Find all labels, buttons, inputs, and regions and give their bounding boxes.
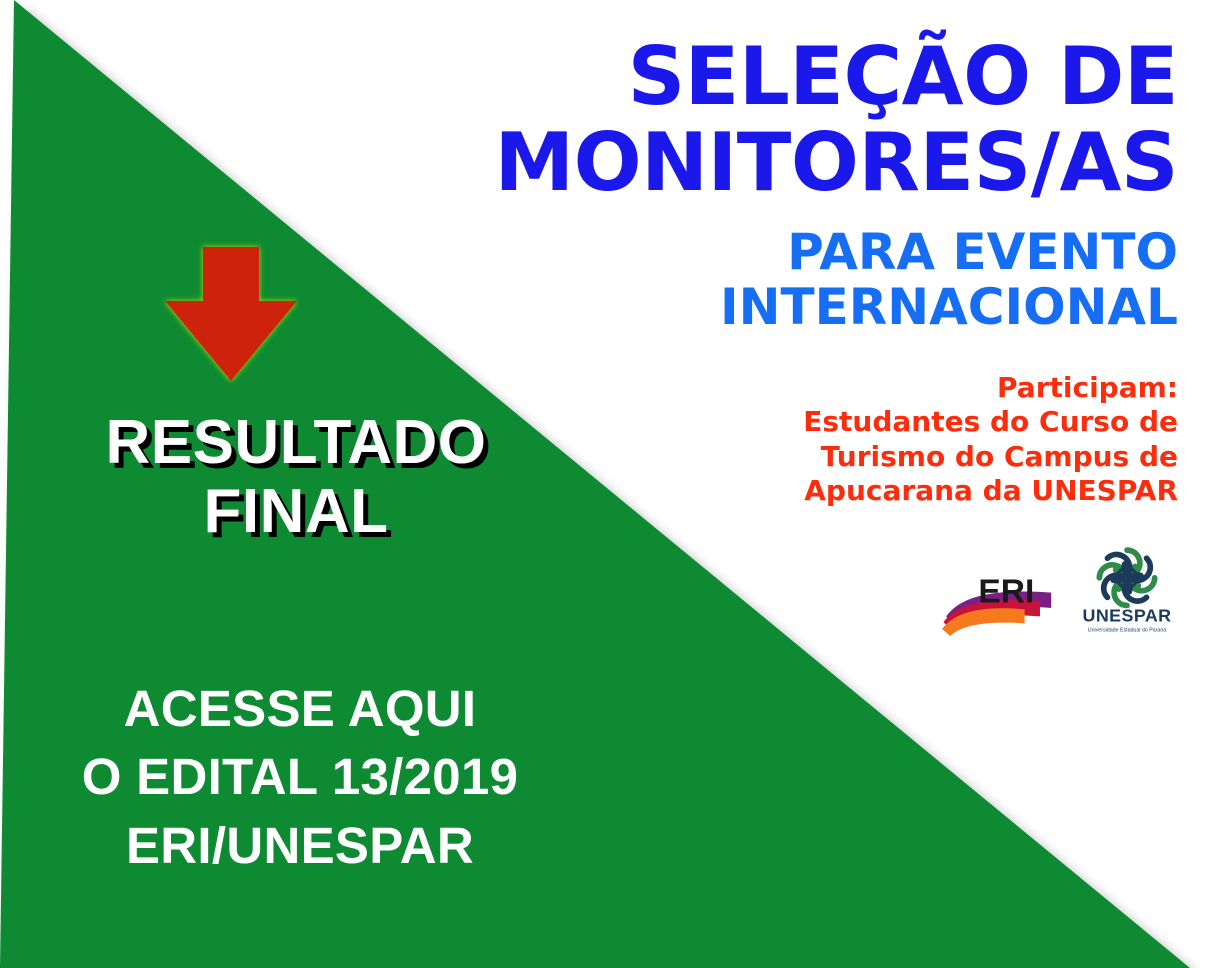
unespar-center-dot xyxy=(1124,574,1131,581)
unespar-logo: UNESPAR Universidade Estadual do Paraná xyxy=(1078,542,1176,638)
poster-title: SELEÇÃO DE MONITORES/AS xyxy=(418,34,1178,205)
participants-note: Participam: Estudantes do Curso de Turis… xyxy=(418,371,1178,508)
subtitle-line-2: INTERNACIONAL xyxy=(418,280,1178,335)
participants-line-3: Turismo do Campus de xyxy=(418,440,1178,474)
eri-wordmark: ERI xyxy=(978,573,1034,610)
poster-subtitle: PARA EVENTO INTERNACIONAL xyxy=(418,225,1178,335)
unespar-tagline: Universidade Estadual do Paraná xyxy=(1088,627,1167,633)
unespar-emblem xyxy=(1098,549,1155,606)
poster-canvas: SELEÇÃO DE MONITORES/AS PARA EVENTO INTE… xyxy=(0,0,1224,968)
right-content-column: SELEÇÃO DE MONITORES/AS PARA EVENTO INTE… xyxy=(418,0,1178,638)
unespar-wordmark: UNESPAR xyxy=(1083,606,1172,626)
title-line-2: MONITORES/AS xyxy=(418,120,1178,206)
participants-line-1: Participam: xyxy=(418,371,1178,405)
subtitle-line-1: PARA EVENTO xyxy=(418,225,1178,280)
participants-line-4: Apucarana da UNESPAR xyxy=(418,474,1178,508)
eri-logo: ERI xyxy=(942,564,1054,638)
logo-row: ERI xyxy=(418,542,1178,638)
title-line-1: SELEÇÃO DE xyxy=(418,34,1178,120)
participants-line-2: Estudantes do Curso de xyxy=(418,405,1178,439)
